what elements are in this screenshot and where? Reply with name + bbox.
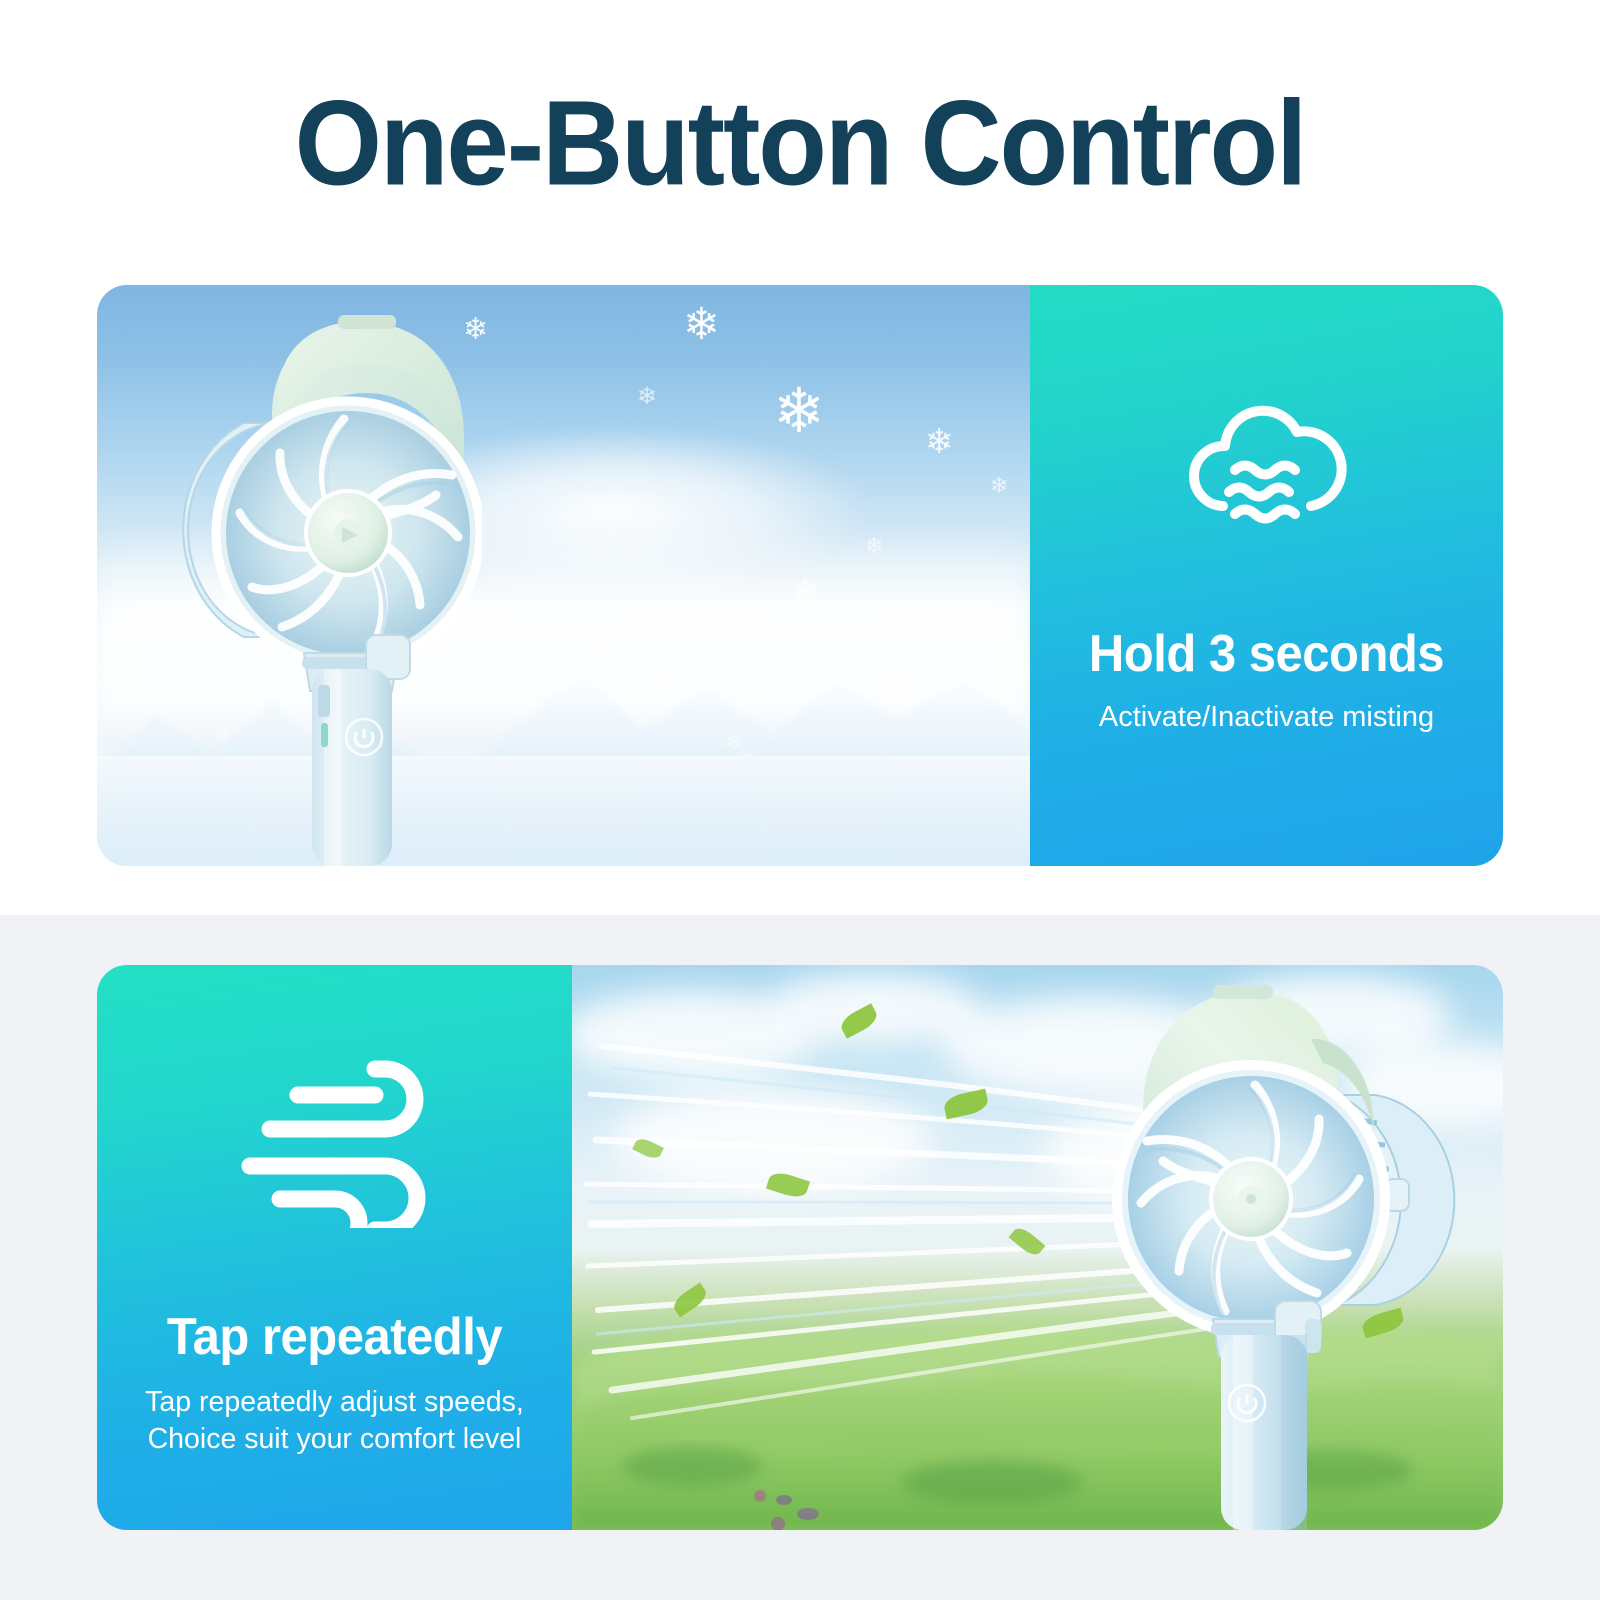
snowflake-icon: ❄ <box>657 669 674 689</box>
snowflake-icon: ❄ <box>925 425 954 459</box>
page-title: One-Button Control <box>295 82 1306 203</box>
snowflake-icon: ❄ <box>865 535 883 557</box>
feature-card-misting: ❄ ❄ ❄ ❄ ❄ ❄ ❄ ❄ ❄ ❄ ❄ ❄ ❄ ❄ ❄ ❄ ❄ ❄ <box>97 285 1503 866</box>
misting-subtitle: Activate/Inactivate misting <box>1099 699 1434 737</box>
handheld-fan-product <box>1075 975 1475 1530</box>
snowflake-icon: ❄ <box>791 575 820 609</box>
page-header: One-Button Control <box>0 0 1600 285</box>
snowflake-icon: ❄ <box>773 381 825 443</box>
snowflake-icon: ❄ <box>883 677 905 703</box>
feature-card-speed: Tap repeatedly Tap repeatedly adjust spe… <box>97 965 1503 1530</box>
wind-speed-icon <box>235 1053 435 1228</box>
misting-title: Hold 3 seconds <box>1089 629 1444 681</box>
meadow-scene-photo <box>572 965 1503 1530</box>
snowflake-icon: ❄ <box>725 733 742 753</box>
cloud-mist-icon <box>1173 388 1361 538</box>
snowflake-icon: ❄ <box>683 303 720 347</box>
wind-speed-icon-box <box>97 1053 572 1228</box>
product-feature-page: One-Button Control <box>0 0 1600 1600</box>
snowflake-icon: ❄ <box>521 693 536 711</box>
snowflake-icon: ❄ <box>957 601 992 643</box>
handheld-misting-fan-product <box>152 305 482 866</box>
speed-info-panel: Tap repeatedly Tap repeatedly adjust spe… <box>97 965 572 1530</box>
speed-title: Tap repeatedly <box>167 1312 502 1364</box>
misting-info-panel: Hold 3 seconds Activate/Inactivate misti… <box>1030 285 1503 866</box>
snowflake-icon: ❄ <box>990 475 1008 497</box>
snowflake-icon: ❄ <box>593 621 615 647</box>
cloud-mist-icon-box <box>1030 388 1503 538</box>
speed-subtitle: Tap repeatedly adjust speeds, Choice sui… <box>145 1384 524 1458</box>
snow-scene-photo: ❄ ❄ ❄ ❄ ❄ ❄ ❄ ❄ ❄ ❄ ❄ ❄ ❄ ❄ ❄ ❄ ❄ ❄ <box>97 285 1030 866</box>
snowflake-icon: ❄ <box>637 385 657 409</box>
